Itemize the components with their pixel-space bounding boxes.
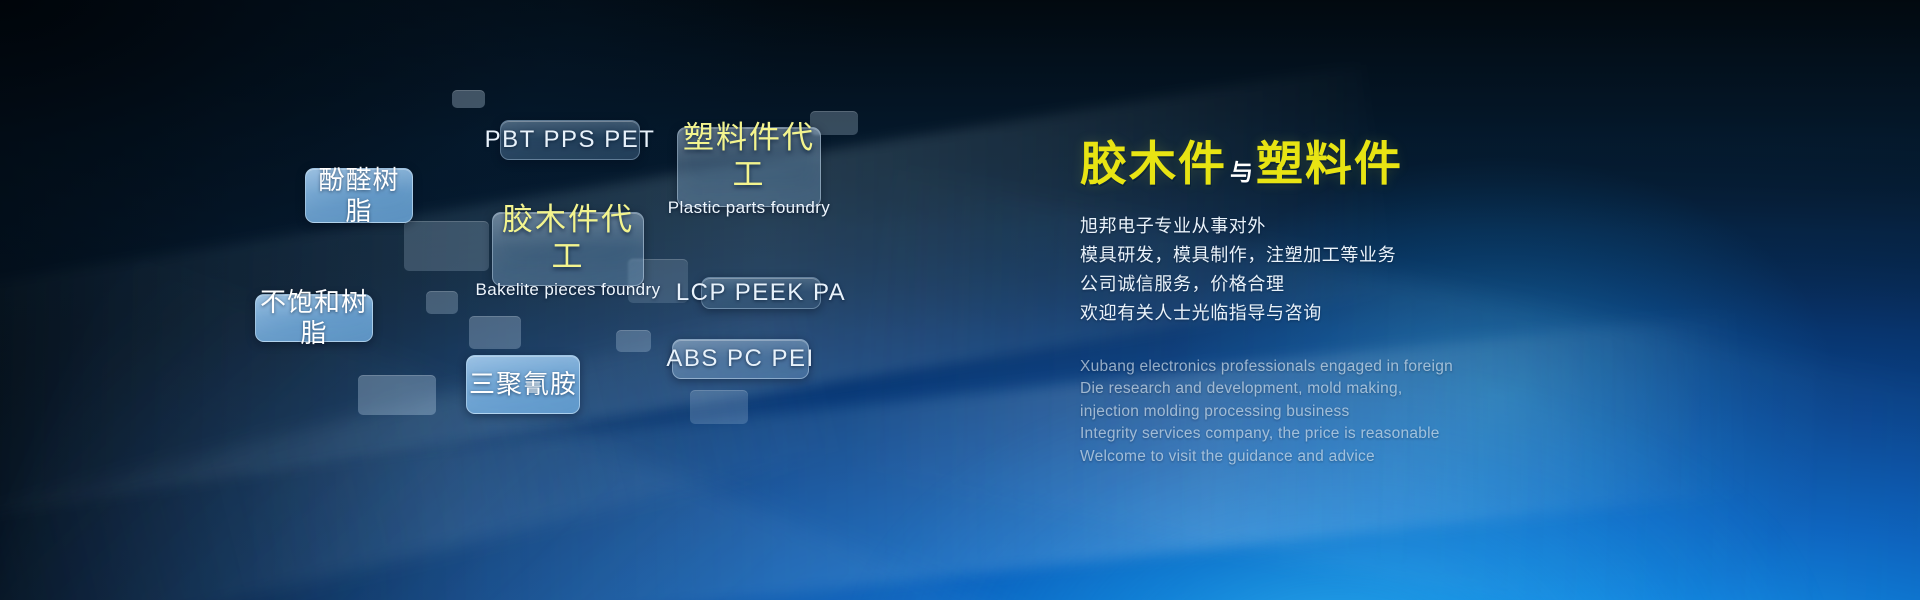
resin-tag-melamine[interactable]: 三聚氰胺 xyxy=(466,355,580,414)
description-en-line: Die research and development, mold makin… xyxy=(1080,378,1720,401)
decorative-square xyxy=(426,291,458,314)
description-cn-line: 旭邦电子专业从事对外 xyxy=(1080,212,1720,241)
page-title: 胶木件与塑料件 xyxy=(1080,138,1720,190)
resin-tag-label: 不饱和树脂 xyxy=(256,287,372,348)
promo-banner: 酚醛树脂不饱和树脂三聚氰胺PBT PPS PETLCP PEEK PAABS P… xyxy=(0,0,1920,600)
resin-tag-unsaturated-resin[interactable]: 不饱和树脂 xyxy=(255,294,373,342)
material-tag-label: PBT PPS PET xyxy=(485,126,656,154)
copy-block: 胶木件与塑料件 旭邦电子专业从事对外模具研发，模具制作，注塑加工等业务公司诚信服… xyxy=(1080,138,1720,468)
decorative-square xyxy=(452,90,485,108)
headline-part-2: 塑料件 xyxy=(1256,137,1403,190)
description-en-line: injection molding processing business xyxy=(1080,401,1720,424)
description-en-line: Xubang electronics professionals engaged… xyxy=(1080,356,1720,379)
material-tag-pbt-pps-pet[interactable]: PBT PPS PET xyxy=(500,120,640,160)
decorative-square xyxy=(616,330,651,352)
feature-tag-plastic-parts-foundry[interactable]: 塑料件代工Plastic parts foundry xyxy=(677,127,821,207)
description-en-line: Welcome to visit the guidance and advice xyxy=(1080,446,1720,469)
resin-tag-phenolic-resin[interactable]: 酚醛树脂 xyxy=(305,168,413,223)
feature-tag-bakelite-pieces-foundry[interactable]: 胶木件代工Bakelite pieces foundry xyxy=(492,212,644,286)
description-cn-line: 欢迎有关人士光临指导与咨询 xyxy=(1080,299,1720,328)
feature-tag-title-cn: 胶木件代工 xyxy=(493,202,643,275)
description-cn-line: 公司诚信服务，价格合理 xyxy=(1080,270,1720,299)
material-tag-label: LCP PEEK PA xyxy=(676,279,846,307)
description-chinese: 旭邦电子专业从事对外模具研发，模具制作，注塑加工等业务公司诚信服务，价格合理欢迎… xyxy=(1080,212,1720,328)
material-tag-abs-pc-pei[interactable]: ABS PC PEI xyxy=(672,339,809,379)
resin-tag-label: 酚醛树脂 xyxy=(306,165,412,226)
feature-tag-title-en: Plastic parts foundry xyxy=(668,198,830,218)
material-tag-label: ABS PC PEI xyxy=(666,345,814,373)
decorative-square xyxy=(690,390,748,424)
feature-tag-title-en: Bakelite pieces foundry xyxy=(476,280,661,300)
decorative-square xyxy=(404,221,489,271)
resin-tag-label: 三聚氰胺 xyxy=(469,369,577,400)
decorative-square xyxy=(358,375,436,415)
description-cn-line: 模具研发，模具制作，注塑加工等业务 xyxy=(1080,241,1720,270)
headline-conjunction: 与 xyxy=(1227,159,1256,185)
decorative-square xyxy=(469,316,521,349)
headline-part-1: 胶木件 xyxy=(1080,137,1227,190)
feature-tag-title-cn: 塑料件代工 xyxy=(678,120,820,193)
description-en-line: Integrity services company, the price is… xyxy=(1080,423,1720,446)
description-english: Xubang electronics professionals engaged… xyxy=(1080,356,1720,469)
material-tag-lcp-peek-pa[interactable]: LCP PEEK PA xyxy=(701,277,821,309)
